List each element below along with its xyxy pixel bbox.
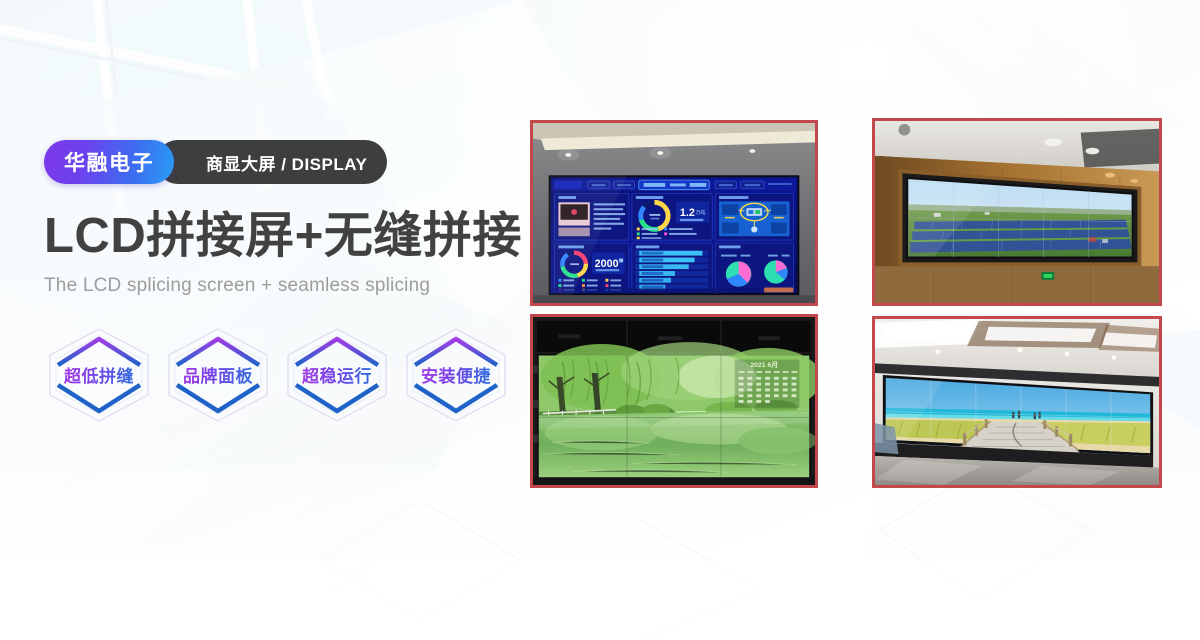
feature-badge-list: 超低拼缝 品牌面板 [44,323,514,427]
feature-badge-1: 超低拼缝 [44,323,154,427]
svg-text:万吨: 万吨 [696,209,706,216]
feature-badge-2: 品牌面板 [163,323,273,427]
svg-text:1.2: 1.2 [680,207,695,219]
photo-dashboard: 1.2 万吨 [530,120,818,306]
feature-label: 安装便捷 [421,362,491,387]
photo-boardwalk-video-wall [872,316,1162,488]
feature-badge-4: 安装便捷 [401,323,511,427]
feature-label: 超稳运行 [302,362,372,387]
feature-label: 超低拼缝 [64,362,134,387]
feature-label: 品牌面板 [183,362,253,387]
page-subtitle: The LCD splicing screen + seamless splic… [44,275,514,297]
brand-badge-row: 商显大屏 / DISPLAY 华融电子 [44,140,174,184]
category-chip: 商显大屏 / DISPLAY [156,140,387,184]
feature-badge-3: 超稳运行 [282,323,392,427]
brand-name-pill: 华融电子 [44,140,174,184]
svg-text:2000: 2000 [595,258,619,270]
photo-solar-video-wall [872,118,1162,306]
promo-banner: 商显大屏 / DISPLAY 华融电子 LCD拼接屏+无缝拼接 The LCD … [0,0,1200,640]
photo-lake-video-wall: 2021 6月 [530,314,818,488]
svg-text:2021 6月: 2021 6月 [750,361,778,369]
headline-column: 商显大屏 / DISPLAY 华融电子 LCD拼接屏+无缝拼接 The LCD … [44,140,514,427]
page-title: LCD拼接屏+无缝拼接 [44,210,514,263]
